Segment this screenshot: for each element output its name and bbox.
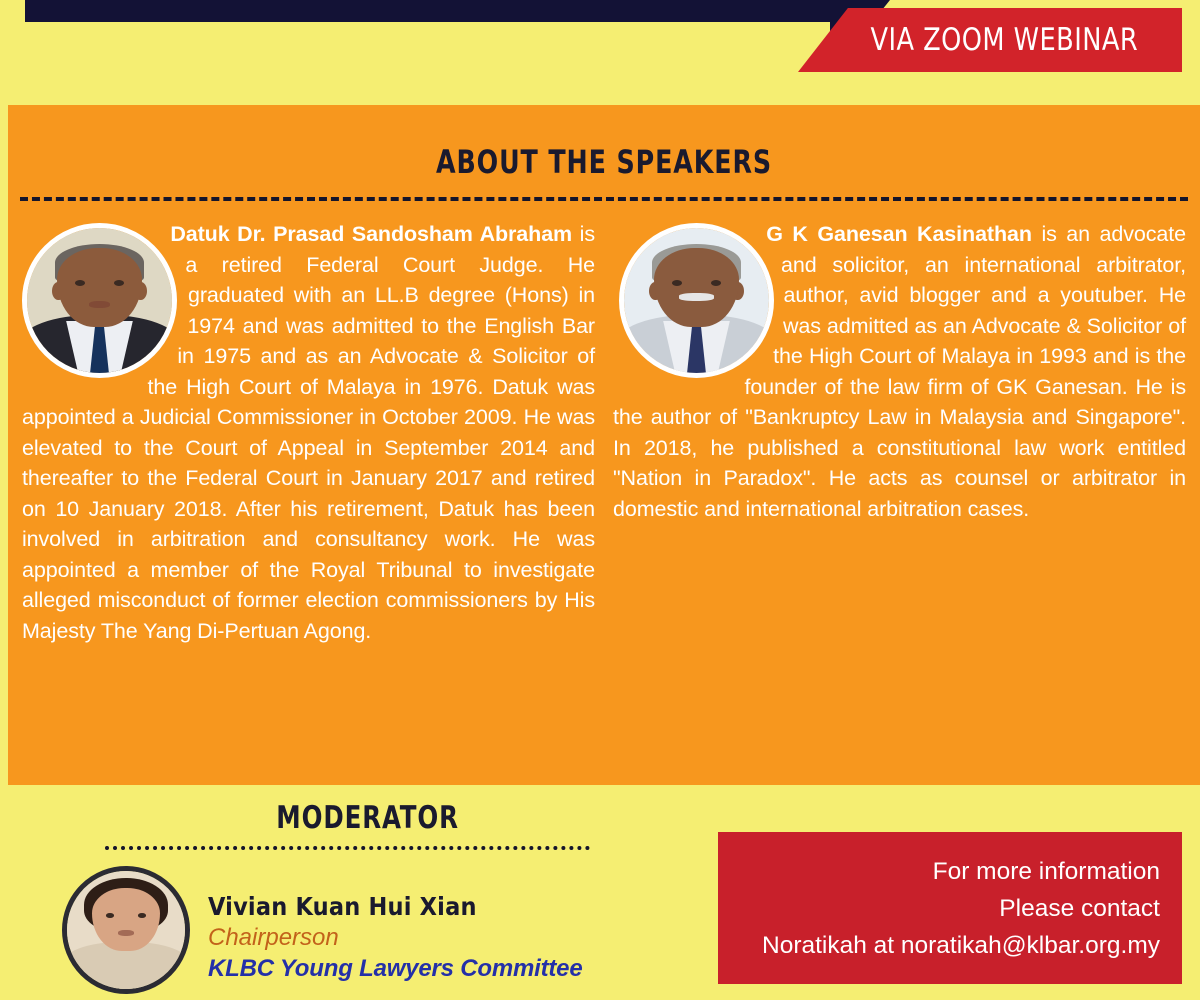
speaker-card-1: Datuk Dr. Prasad Sandosham Abraham is a … [22,219,595,646]
speaker-card-2: G K Ganesan Kasinathan is an advocate an… [613,219,1186,646]
moderator-organisation: KLBC Young Lawyers Committee [208,955,582,983]
poster-canvas: VIA ZOOM WEBINAR ABOUT THE SPEAKERS [0,0,1200,1000]
moderator-profile: Vivian Kuan Hui Xian Chairperson KLBC Yo… [0,866,700,994]
portrait-icon [67,871,185,989]
contact-line-1: For more information [933,853,1160,890]
via-zoom-webinar-label: VIA ZOOM WEBINAR [842,22,1137,58]
navy-header-bar [25,0,840,22]
via-zoom-webinar-banner: VIA ZOOM WEBINAR [798,8,1182,72]
speaker-2-name: G K Ganesan Kasinathan [766,222,1032,246]
moderator-name: Vivian Kuan Hui Xian [208,892,582,921]
about-the-speakers-title: ABOUT THE SPEAKERS [80,105,1129,181]
about-the-speakers-panel: ABOUT THE SPEAKERS [8,105,1200,785]
moderator-avatar [62,866,190,994]
contact-line-3[interactable]: Noratikah at noratikah@klbar.org.my [762,927,1160,964]
moderator-section: MODERATOR Vivian Kuan Hui Xian Chairpers… [0,800,700,994]
speaker-1-name: Datuk Dr. Prasad Sandosham Abraham [170,222,572,246]
speakers-grid: Datuk Dr. Prasad Sandosham Abraham is a … [8,201,1200,646]
moderator-details: Vivian Kuan Hui Xian Chairperson KLBC Yo… [190,866,582,983]
speaker-1-avatar [22,223,177,378]
moderator-title: MODERATOR [42,800,658,836]
contact-line-2: Please contact [999,890,1160,927]
contact-information-box: For more information Please contact Nora… [718,832,1182,984]
portrait-icon [624,228,769,373]
speaker-2-avatar [619,223,774,378]
portrait-icon [27,228,172,373]
moderator-divider [105,846,590,850]
moderator-role: Chairperson [208,924,582,952]
